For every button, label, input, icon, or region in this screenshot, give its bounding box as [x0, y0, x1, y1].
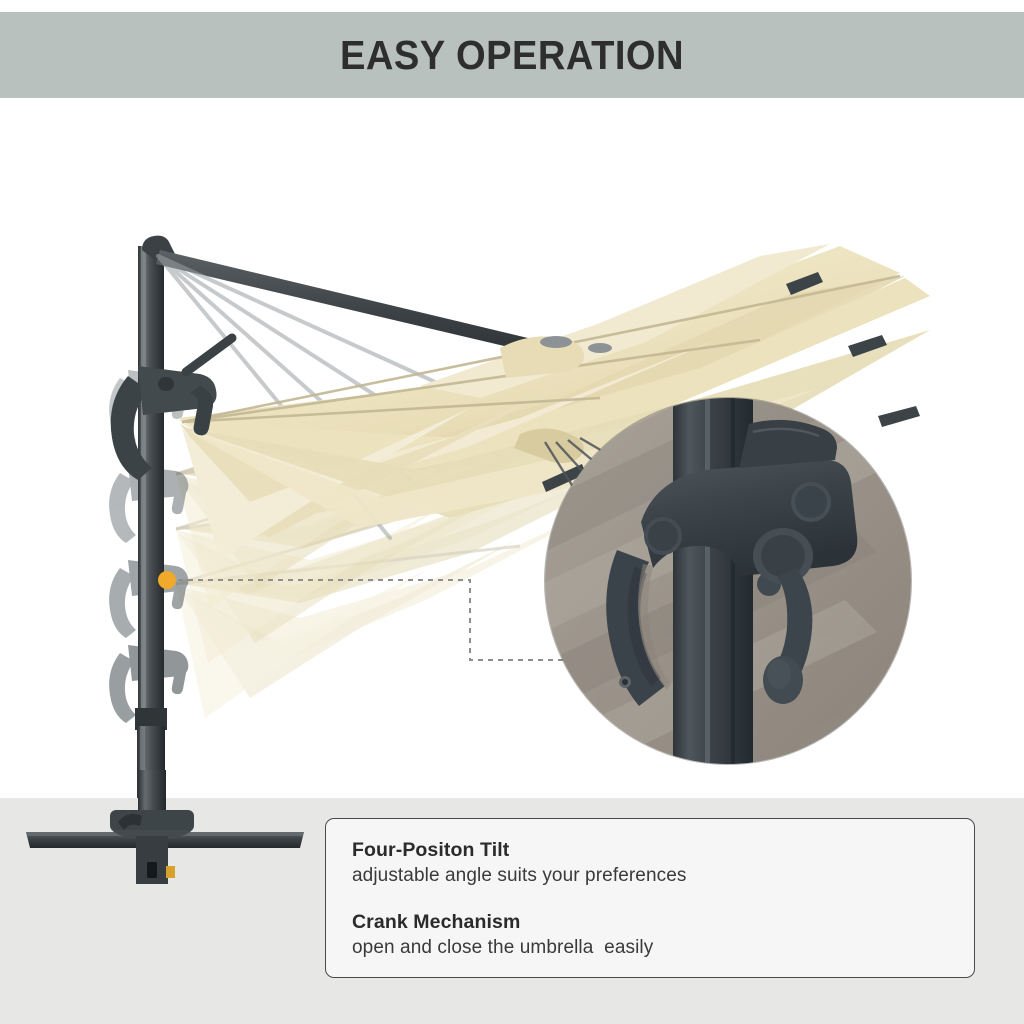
feature-title-crank: Crank Mechanism: [352, 909, 974, 935]
infographic-stage: EASY OPERATION: [0, 0, 1024, 1024]
feature-card: Four-Positon Tilt adjustable angle suits…: [325, 818, 975, 978]
feature-desc-tilt: adjustable angle suits your preferences: [352, 863, 974, 889]
feature-desc-crank: open and close the umbrella easily: [352, 935, 974, 961]
detail-pole: [673, 398, 753, 764]
page-title: EASY OPERATION: [340, 32, 684, 79]
detail-inset-circle: [545, 398, 911, 764]
feature-item-crank: Crank Mechanism open and close the umbre…: [352, 909, 974, 961]
feature-title-tilt: Four-Positon Tilt: [352, 837, 974, 863]
feature-item-tilt: Four-Positon Tilt adjustable angle suits…: [352, 837, 974, 889]
umbrella-pole: [135, 246, 167, 798]
umbrella-base: [0, 770, 330, 900]
callout-marker-dot: [158, 571, 176, 589]
header-band: EASY OPERATION: [0, 12, 1024, 98]
